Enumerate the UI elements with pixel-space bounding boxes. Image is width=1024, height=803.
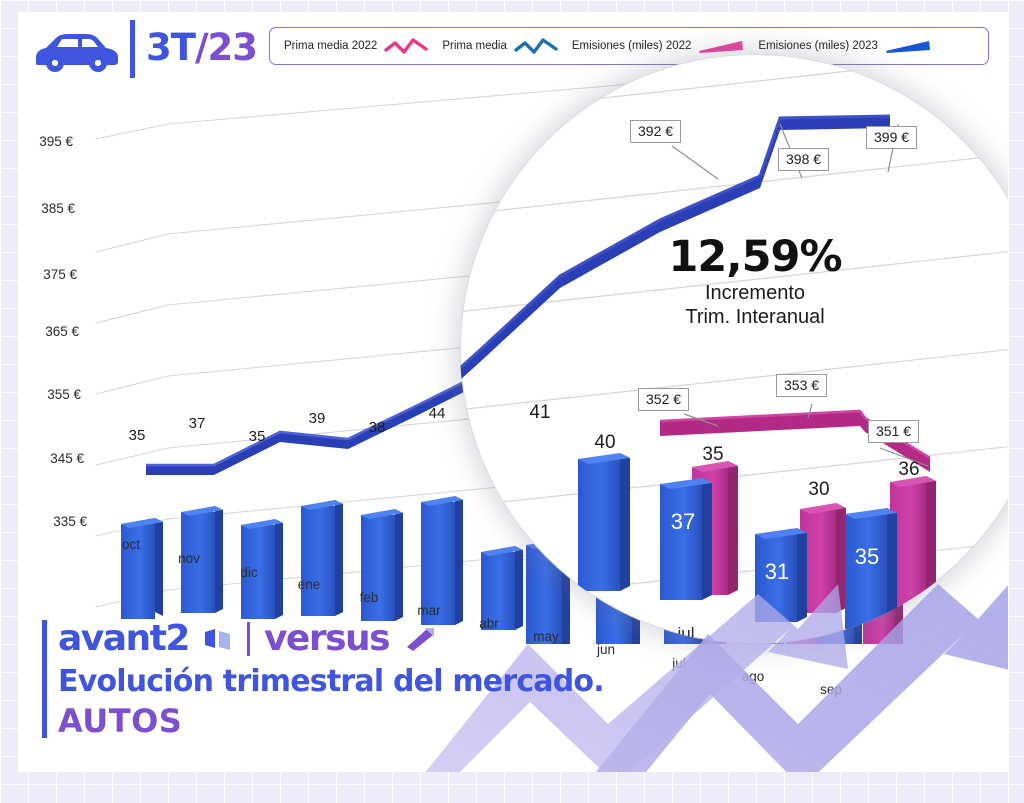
callout-399: 399 € xyxy=(866,126,917,149)
footer-divider xyxy=(42,620,47,738)
infographic-root: 3T/23 Prima media 2022 Prima media Emisi xyxy=(0,0,1024,803)
x-label-oct: oct xyxy=(108,537,154,552)
magnified-plot xyxy=(460,54,1008,644)
legend-label: Emisiones (miles) 2022 xyxy=(572,40,692,52)
magnified-bar-label-jun: 40 xyxy=(588,432,622,454)
callout-392: 392 € xyxy=(630,120,681,143)
magnified-bar-label-ago-2022: 30 xyxy=(802,479,836,501)
magnified-bar-label-may: 41 xyxy=(523,402,557,424)
bar-label-ene: 39 xyxy=(300,410,334,427)
y-tick-345: 345 € xyxy=(24,451,84,466)
y-tick-365: 365 € xyxy=(19,324,79,339)
brand-separator xyxy=(247,622,250,656)
bar-label-mar: 44 xyxy=(420,405,454,422)
y-tick-375: 375 € xyxy=(18,267,77,282)
car-icon xyxy=(30,26,124,74)
legend-item-emisiones-2022[interactable]: Emisiones (miles) 2022 xyxy=(558,39,745,54)
legend-item-prima-media[interactable]: Prima media xyxy=(428,37,558,55)
callout-352: 352 € xyxy=(638,388,689,411)
magnified-bar-label-sep-2022: 36 xyxy=(892,459,926,481)
brand-versus: versus xyxy=(264,618,389,659)
magnified-bar-label-jul-2023: 37 xyxy=(666,509,700,535)
bar-ene xyxy=(301,500,343,616)
headline-metric-block: 12,59% Incremento Trim. Interanual xyxy=(580,232,930,329)
increment-caption-1: Incremento xyxy=(580,282,930,306)
legend-item-prima-media-2022[interactable]: Prima media 2022 xyxy=(270,37,428,55)
versus-mark-icon xyxy=(403,627,437,651)
legend-label: Emisiones (miles) 2023 xyxy=(758,40,878,52)
pink-line-swatch-icon xyxy=(384,37,428,55)
x-label-dic: dic xyxy=(226,565,272,580)
increment-percent: 12,59% xyxy=(580,232,930,282)
y-tick-355: 355 € xyxy=(21,387,81,402)
brand-avant2: avant2 xyxy=(58,618,189,659)
bar-oct xyxy=(121,518,163,622)
legend-label: Prima media 2022 xyxy=(284,40,377,52)
blue-line-swatch-icon xyxy=(514,37,558,55)
header-divider xyxy=(130,20,135,78)
magnified-bar-jun xyxy=(578,453,630,591)
increment-caption-2: Trim. Interanual xyxy=(580,306,930,330)
blue-block-swatch-icon xyxy=(885,39,931,54)
quarter-prefix: 3T xyxy=(146,26,195,69)
callout-398: 398 € xyxy=(778,148,829,171)
bar-label-feb: 38 xyxy=(360,419,394,436)
bar-label-oct: 35 xyxy=(120,427,154,444)
y-tick-335: 335 € xyxy=(27,514,87,529)
pink-block-swatch-icon xyxy=(698,39,744,54)
magnified-bar-label-sep-2023: 35 xyxy=(850,544,884,570)
callout-351: 351 € xyxy=(868,420,919,443)
footer-subtitle: AUTOS xyxy=(58,702,182,740)
quarter-title: 3T/23 xyxy=(146,26,257,69)
callout-353: 353 € xyxy=(776,374,827,397)
content-card: 3T/23 Prima media 2022 Prima media Emisi xyxy=(18,12,1008,772)
footer-title: Evolución trimestral del mercado. xyxy=(58,664,604,699)
footer: avant2 versus Evolución trimestral del m… xyxy=(18,612,1008,772)
quarter-suffix: /23 xyxy=(195,26,257,69)
bar-label-dic: 35 xyxy=(240,428,274,445)
brand-lockup: avant2 versus xyxy=(58,618,437,659)
avant2-mark-icon xyxy=(203,628,233,650)
magnifier-content: 41 40 37 31 35 35 30 36 jun jul ago sep … xyxy=(460,54,1008,644)
bar-label-nov: 37 xyxy=(180,415,214,432)
y-tick-395: 395 € xyxy=(18,134,73,149)
y-tick-385: 385 € xyxy=(18,201,75,216)
x-label-nov: nov xyxy=(166,551,212,566)
magnified-bar-label-jul-2022: 35 xyxy=(696,444,730,466)
legend-label: Prima media xyxy=(442,40,507,52)
magnifier-lens: 41 40 37 31 35 35 30 36 jun jul ago sep … xyxy=(460,54,1008,644)
legend-item-emisiones-2023[interactable]: Emisiones (miles) 2023 xyxy=(744,39,931,54)
x-label-ene: ene xyxy=(286,577,332,592)
